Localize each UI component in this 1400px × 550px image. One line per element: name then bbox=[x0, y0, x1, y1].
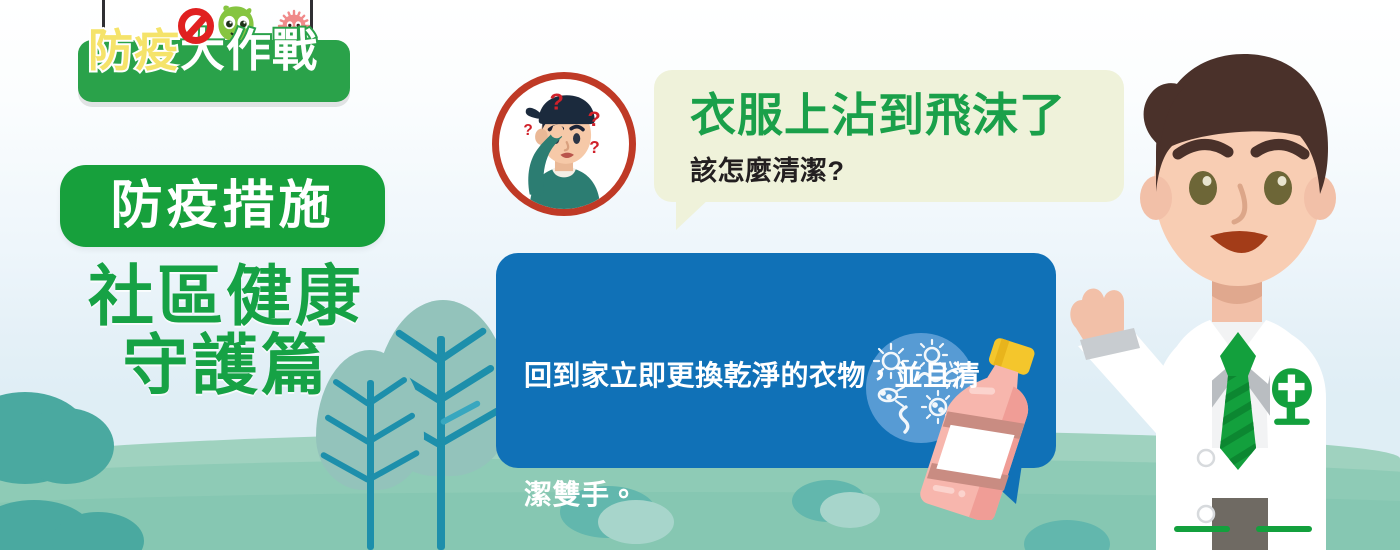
coat-pocket-line bbox=[1174, 526, 1230, 532]
coat-pocket-line bbox=[1256, 526, 1312, 532]
measure-badge-label: 防疫措施 bbox=[110, 180, 334, 232]
doctor-character bbox=[1060, 28, 1400, 550]
svg-text:?: ? bbox=[589, 137, 599, 157]
page-subtitle: 社區健康 守護篇 bbox=[36, 262, 416, 399]
svg-text:?: ? bbox=[523, 122, 532, 139]
campaign-banner-text-part-a: 防疫 bbox=[88, 25, 180, 76]
question-headline: 衣服上沾到飛沫了 bbox=[690, 92, 1066, 138]
answer-line-2: 潔雙手。 bbox=[524, 475, 994, 515]
svg-text:?: ? bbox=[550, 89, 564, 115]
answer-line-1: 回到家立即更換乾淨的衣物，並且清 bbox=[524, 356, 994, 396]
svg-text:?: ? bbox=[587, 106, 600, 131]
no-entry-icon bbox=[178, 8, 214, 44]
page-subtitle-line2: 守護篇 bbox=[36, 331, 416, 400]
poster-canvas: 防疫大作戰 防疫措施 社區健康 守護篇 bbox=[0, 0, 1400, 550]
bush-icon bbox=[18, 408, 114, 484]
confused-man-avatar: ? ? ? ? bbox=[492, 72, 636, 216]
question-bubble-tail bbox=[676, 198, 710, 230]
answer-text: 回到家立即更換乾淨的衣物，並且清 潔雙手。 洗滌衣物時，可以添加適 量『消毒藥水… bbox=[524, 276, 994, 550]
page-subtitle-line1: 社區健康 bbox=[36, 262, 416, 331]
question-subline: 該怎麼清潔? bbox=[690, 158, 845, 185]
measure-badge: 防疫措施 bbox=[60, 165, 385, 247]
